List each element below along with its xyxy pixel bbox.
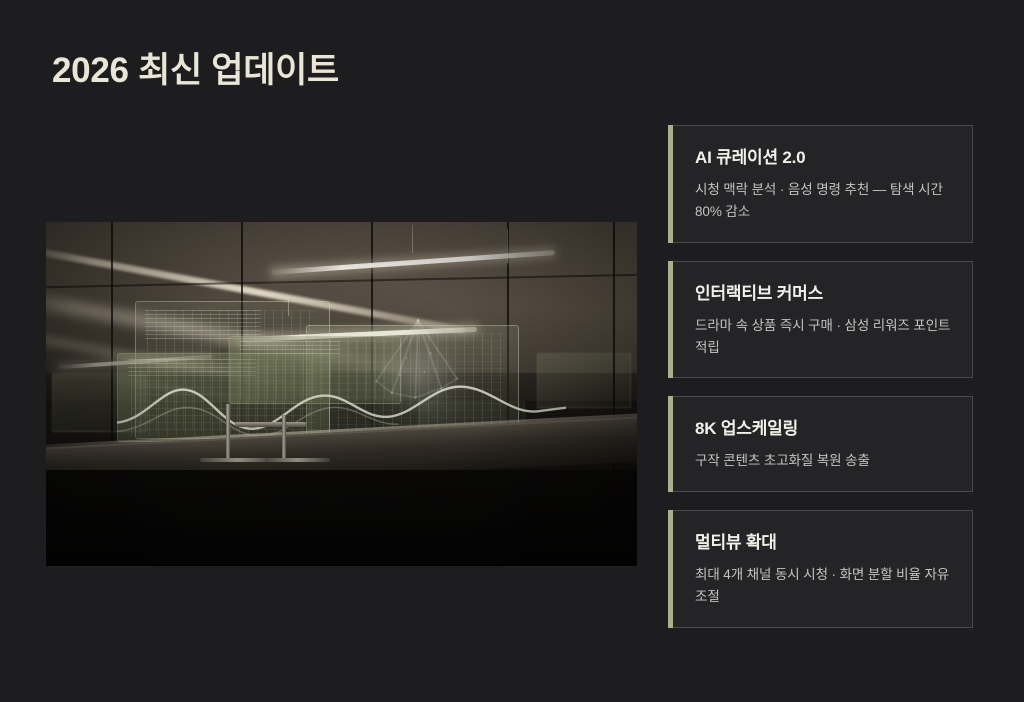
card-title: 8K 업스케일링 [695,414,952,439]
page-title: 2026 최신 업데이트 [52,42,339,93]
feature-card-list: AI 큐레이션 2.0 시청 맥락 분석 · 음성 명령 추천 — 탐색 시간 … [673,125,973,628]
feature-card-interactive-commerce[interactable]: 인터랙티브 커머스 드라마 속 상품 즉시 구매 · 삼성 리워즈 포인트 적립 [673,261,973,379]
card-body: 최대 4개 채널 동시 시청 · 화면 분할 비율 자유 조절 [695,564,952,608]
card-body: 구작 콘텐츠 초고화질 복원 송출 [695,450,952,472]
card-body: 시청 맥락 분석 · 음성 명령 추천 — 탐색 시간 80% 감소 [695,179,952,223]
feature-card-8k-upscaling[interactable]: 8K 업스케일링 구작 콘텐츠 초고화질 복원 송출 [673,396,973,492]
card-accent-bar [668,125,673,243]
card-body: 드라마 속 상품 즉시 구매 · 삼성 리워즈 포인트 적립 [695,315,952,359]
feature-card-ai-curation[interactable]: AI 큐레이션 2.0 시청 맥락 분석 · 음성 명령 추천 — 탐색 시간 … [673,125,973,243]
card-title: AI 큐레이션 2.0 [695,143,952,168]
photo-vignette [46,222,637,566]
card-title: 인터랙티브 커머스 [695,279,952,304]
card-accent-bar [668,396,673,492]
card-title: 멀티뷰 확대 [695,528,952,553]
showroom-photo [46,222,637,566]
photo-scene [46,222,637,566]
feature-card-multiview[interactable]: 멀티뷰 확대 최대 4개 채널 동시 시청 · 화면 분할 비율 자유 조절 [673,510,973,628]
card-accent-bar [668,261,673,379]
card-accent-bar [668,510,673,628]
